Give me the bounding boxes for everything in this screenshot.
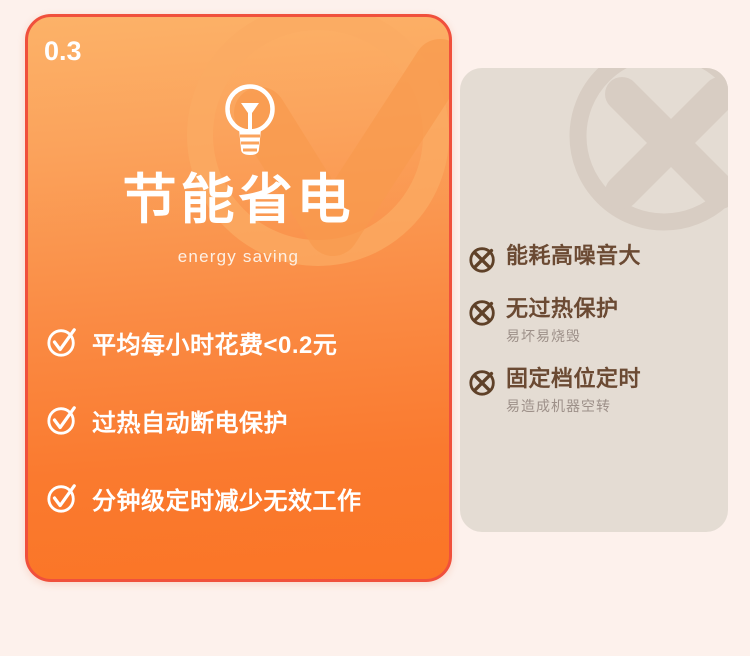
list-item-label: 分钟级定时减少无效工作 xyxy=(92,481,362,516)
check-circle-icon xyxy=(46,482,78,514)
list-item-text: 能耗高噪音大 xyxy=(506,243,641,269)
cross-circle-watermark-icon xyxy=(554,68,728,246)
page-title: 节能省电 xyxy=(28,172,449,229)
list-item-label: 无过热保护 xyxy=(506,296,619,322)
check-circle-icon xyxy=(46,326,78,358)
list-item: 过热自动断电保护 xyxy=(46,391,446,449)
list-item: 固定档位定时 易造成机器空转 xyxy=(468,366,728,416)
check-circle-icon xyxy=(46,404,78,436)
positive-feature-list: 平均每小时花费<0.2元 过热自动断电保护 分钟级定时减少无效工作 xyxy=(46,313,446,547)
list-item: 分钟级定时减少无效工作 xyxy=(46,469,446,527)
list-item-label: 过热自动断电保护 xyxy=(92,403,288,438)
list-item: 能耗高噪音大 xyxy=(468,243,728,274)
cross-circle-icon xyxy=(468,244,498,274)
list-item-text: 固定档位定时 易造成机器空转 xyxy=(506,366,641,416)
list-item-text: 无过热保护 易坏易烧毁 xyxy=(506,296,619,346)
list-item-label: 能耗高噪音大 xyxy=(506,243,641,269)
cross-circle-icon xyxy=(468,297,498,327)
cross-circle-icon xyxy=(468,367,498,397)
page-subtitle: energy saving xyxy=(28,247,449,267)
positive-feature-card: 0.3 节能省电 energy saving 平均每小时花费<0.2元 xyxy=(25,14,452,582)
page-number-badge: 0.3 xyxy=(44,36,82,67)
list-item-label: 固定档位定时 xyxy=(506,366,641,392)
list-item-sublabel: 易造成机器空转 xyxy=(506,396,641,416)
list-item-label: 平均每小时花费<0.2元 xyxy=(92,325,337,360)
list-item: 平均每小时花费<0.2元 xyxy=(46,313,446,371)
list-item: 无过热保护 易坏易烧毁 xyxy=(468,296,728,346)
lightbulb-icon xyxy=(217,79,283,165)
comparison-infographic: 能耗高噪音大 无过热保护 易坏易烧毁 xyxy=(0,0,750,656)
negative-feature-list: 能耗高噪音大 无过热保护 易坏易烧毁 xyxy=(468,243,728,438)
list-item-sublabel: 易坏易烧毁 xyxy=(506,326,619,346)
negative-feature-card: 能耗高噪音大 无过热保护 易坏易烧毁 xyxy=(460,68,728,532)
